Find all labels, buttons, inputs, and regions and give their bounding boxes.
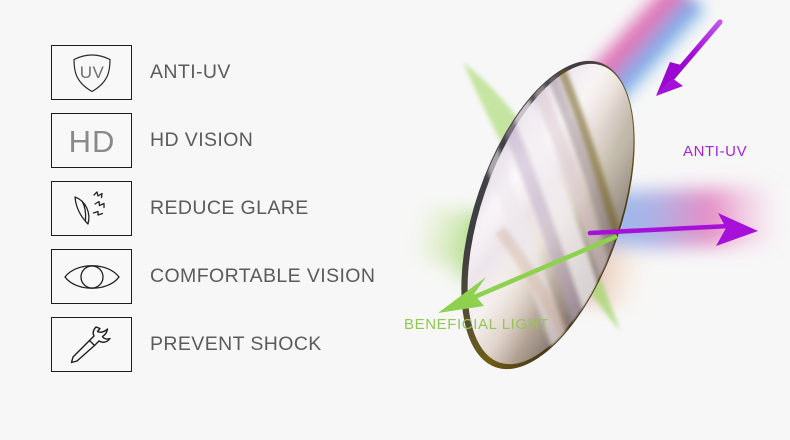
lens-diagram-svg xyxy=(400,0,790,440)
eye-icon xyxy=(51,249,132,304)
glare-wing-icon xyxy=(51,181,132,236)
feature-label-prevent-shock: PREVENT SHOCK xyxy=(150,317,322,372)
feature-label-comfortable-vision: COMFORTABLE VISION xyxy=(150,249,375,304)
feature-label-hd-vision: HD VISION xyxy=(150,113,253,168)
hd-text-icon: HD xyxy=(51,113,132,168)
beneficial-light-label: BENEFICIAL LIGHT xyxy=(404,316,549,333)
hd-icon-text: HD xyxy=(68,124,115,159)
feature-item-hd-vision: HD HD VISION xyxy=(51,113,451,181)
page-root: UV ANTI-UV HD HD VISION xyxy=(0,0,790,440)
feature-label-reduce-glare: REDUCE GLARE xyxy=(150,181,309,236)
feature-item-reduce-glare: REDUCE GLARE xyxy=(51,181,451,249)
uv-icon-text: UV xyxy=(79,63,104,82)
uv-shield-icon: UV xyxy=(51,45,132,100)
feature-item-prevent-shock: PREVENT SHOCK xyxy=(51,317,451,385)
feature-list: UV ANTI-UV HD HD VISION xyxy=(51,45,451,385)
feature-item-comfortable-vision: COMFORTABLE VISION xyxy=(51,249,451,317)
lens-light-diagram: ANTI-UV BENEFICIAL LIGHT xyxy=(400,0,790,440)
hammer-icon xyxy=(51,317,132,372)
feature-label-anti-uv: ANTI-UV xyxy=(150,45,231,100)
feature-item-anti-uv: UV ANTI-UV xyxy=(51,45,451,113)
anti-uv-label: ANTI-UV xyxy=(683,143,747,160)
